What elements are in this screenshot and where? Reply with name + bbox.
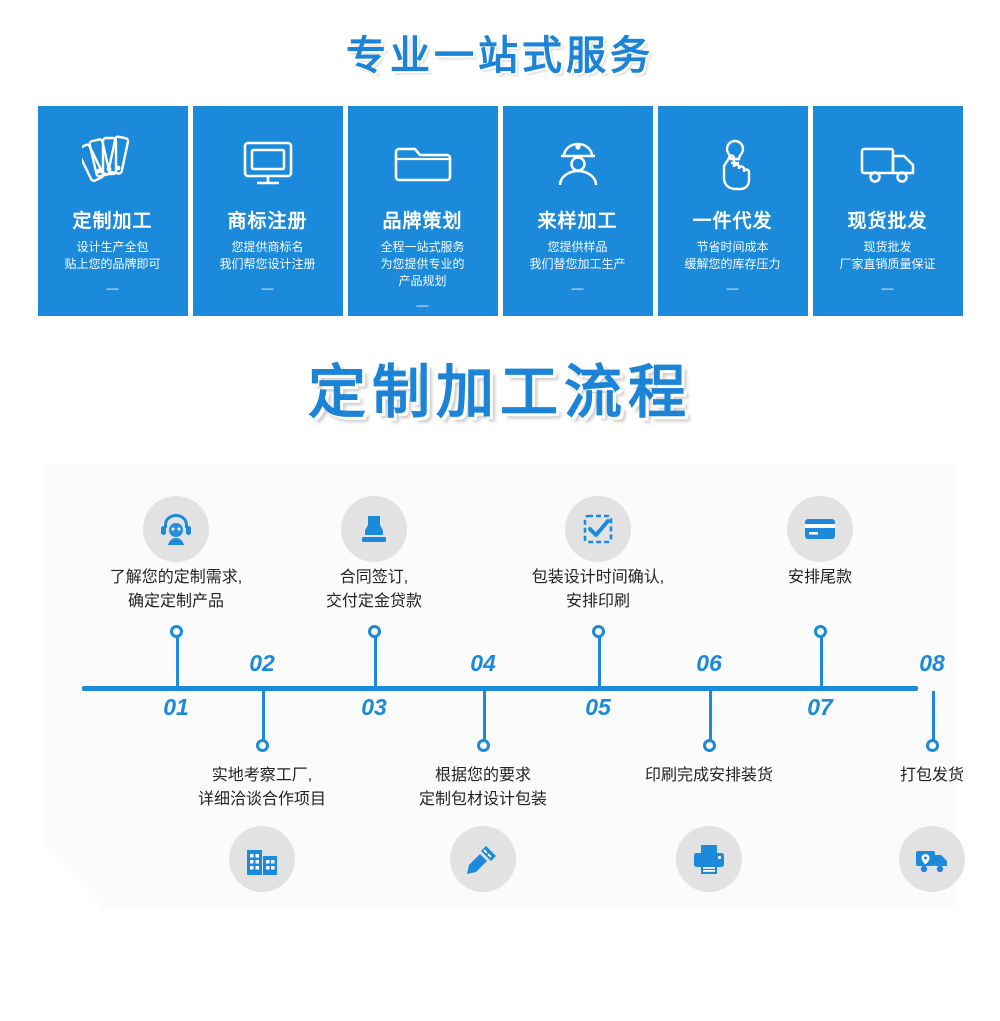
service-card-desc-line: 为您提供专业的 [380,256,464,273]
flow-step-label: 印刷完成安排装货 [594,764,824,788]
service-card-divider: — [262,281,274,295]
flow-step-number: 01 [141,694,211,721]
service-card-desc: 设计生产全包 贴上您的品牌即可 [64,239,160,273]
service-card-divider: — [572,281,584,295]
flow-tick [709,691,712,745]
flow-step-label: 包装设计时间确认, 安排印刷 [483,566,713,614]
flow-tick [374,631,377,686]
flow-step-label-line: 实地考察工厂, [147,764,377,788]
monitor-icon [237,132,299,194]
flow-step-number: 05 [563,694,633,721]
stamp-seal-icon [341,496,407,562]
flow-step-label-line: 合同签订, [259,566,489,590]
flow-tick [483,691,486,745]
color-swatch-fan-icon [82,132,144,194]
service-card-divider: — [882,281,894,295]
hand-click-bulb-icon [702,132,764,194]
flow-step-label: 合同签订, 交付定金贷款 [259,566,489,614]
service-card-desc-line: 您提供商标名 [219,239,315,256]
page-title-services: 专业一站式服务 [0,0,1000,76]
flow-dot [592,625,605,638]
flow-step-label-line: 包装设计时间确认, [483,566,713,590]
customer-service-headset-icon [143,496,209,562]
printer-icon [676,826,742,892]
flow-step-number: 02 [227,650,297,677]
folder-icon [392,132,454,194]
service-card-desc: 全程一站式服务 为您提供专业的 产品规划 [380,239,464,290]
flow-tick [932,691,935,745]
service-card-trademark-registration[interactable]: 商标注册 您提供商标名 我们帮您设计注册 — [193,106,343,316]
service-card-sample-processing[interactable]: 来样加工 您提供样品 我们替您加工生产 — [503,106,653,316]
flow-step-number: 03 [339,694,409,721]
service-card-desc-line: 贴上您的品牌即可 [64,256,160,273]
flow-tick [176,631,179,686]
flow-step-label-line: 印刷完成安排装货 [594,764,824,788]
service-card-desc-line: 现货批发 [839,239,935,256]
flow-dot [256,739,269,752]
service-card-desc-line: 厂家直销质量保证 [839,256,935,273]
flow-step-number: 08 [897,650,967,677]
flow-dot [814,625,827,638]
service-card-desc-line: 我们帮您设计注册 [219,256,315,273]
service-card-desc-line: 节省时间成本 [684,239,780,256]
worker-helmet-icon [547,132,609,194]
flow-tick [598,631,601,686]
service-card-desc-line: 缓解您的库存压力 [684,256,780,273]
service-card-desc-line: 我们替您加工生产 [529,256,625,273]
flow-dot [926,739,939,752]
delivery-truck-location-icon [899,826,965,892]
truck-icon [857,132,919,194]
service-card-title: 商标注册 [227,206,307,233]
service-card-desc-line: 全程一站式服务 [380,239,464,256]
flow-step-label-line: 安排印刷 [483,590,713,614]
flow-dot [703,739,716,752]
service-card-desc-line: 您提供样品 [529,239,625,256]
flow-tick [820,631,823,686]
page-title-process: 定制加工流程 [0,364,1000,422]
service-card-divider: — [107,281,119,295]
service-card-divider: — [727,281,739,295]
flow-dot [477,739,490,752]
service-card-desc: 您提供商标名 我们帮您设计注册 [219,239,315,273]
flow-step-label-line: 打包发货 [817,764,1000,788]
flow-step-label: 打包发货 [817,764,1000,788]
service-card-brand-planning[interactable]: 品牌策划 全程一站式服务 为您提供专业的 产品规划 — [348,106,498,316]
checkbox-check-icon [565,496,631,562]
flow-step-label-line: 确定定制产品 [61,590,291,614]
service-card-title: 来样加工 [537,206,617,233]
service-card-divider: — [417,298,429,312]
flow-step-label-line: 了解您的定制需求, [61,566,291,590]
flow-step-label-line: 根据您的要求 [368,764,598,788]
flow-step-label-line: 安排尾款 [705,566,935,590]
service-card-title: 品牌策划 [382,206,462,233]
flow-step-number: 06 [674,650,744,677]
service-card-title: 一件代发 [692,206,772,233]
service-card-custom-processing[interactable]: 定制加工 设计生产全包 贴上您的品牌即可 — [38,106,188,316]
flow-step-label: 实地考察工厂, 详细洽谈合作项目 [147,764,377,812]
process-flow-diagram: 01 了解您的定制需求, 确定定制产品 [44,464,956,909]
flow-tick [262,691,265,745]
flow-dot [368,625,381,638]
service-card-list: 定制加工 设计生产全包 贴上您的品牌即可 — 商标注册 您提供商标名 我们帮您设… [0,106,1000,316]
service-card-title: 定制加工 [72,206,152,233]
ruler-pencil-design-icon [450,826,516,892]
service-card-dropshipping[interactable]: 一件代发 节省时间成本 缓解您的库存压力 — [658,106,808,316]
service-card-desc: 现货批发 厂家直销质量保证 [839,239,935,273]
flow-step-number: 04 [448,650,518,677]
service-card-desc: 节省时间成本 缓解您的库存压力 [684,239,780,273]
credit-card-icon [787,496,853,562]
service-card-title: 现货批发 [847,206,927,233]
service-card-desc-line: 设计生产全包 [64,239,160,256]
flow-dot [170,625,183,638]
factory-building-icon [229,826,295,892]
flow-step-number: 07 [785,694,855,721]
flow-step-label: 根据您的要求 定制包材设计包装 [368,764,598,812]
flow-timeline-axis [82,686,918,691]
flow-step-label-line: 详细洽谈合作项目 [147,788,377,812]
flow-step-label-line: 交付定金贷款 [259,590,489,614]
flow-step-label: 了解您的定制需求, 确定定制产品 [61,566,291,614]
flow-step-label-line: 定制包材设计包装 [368,788,598,812]
service-card-desc-line: 产品规划 [380,273,464,290]
service-card-stock-wholesale[interactable]: 现货批发 现货批发 厂家直销质量保证 — [813,106,963,316]
flow-step-label: 安排尾款 [705,566,935,590]
service-card-desc: 您提供样品 我们替您加工生产 [529,239,625,273]
